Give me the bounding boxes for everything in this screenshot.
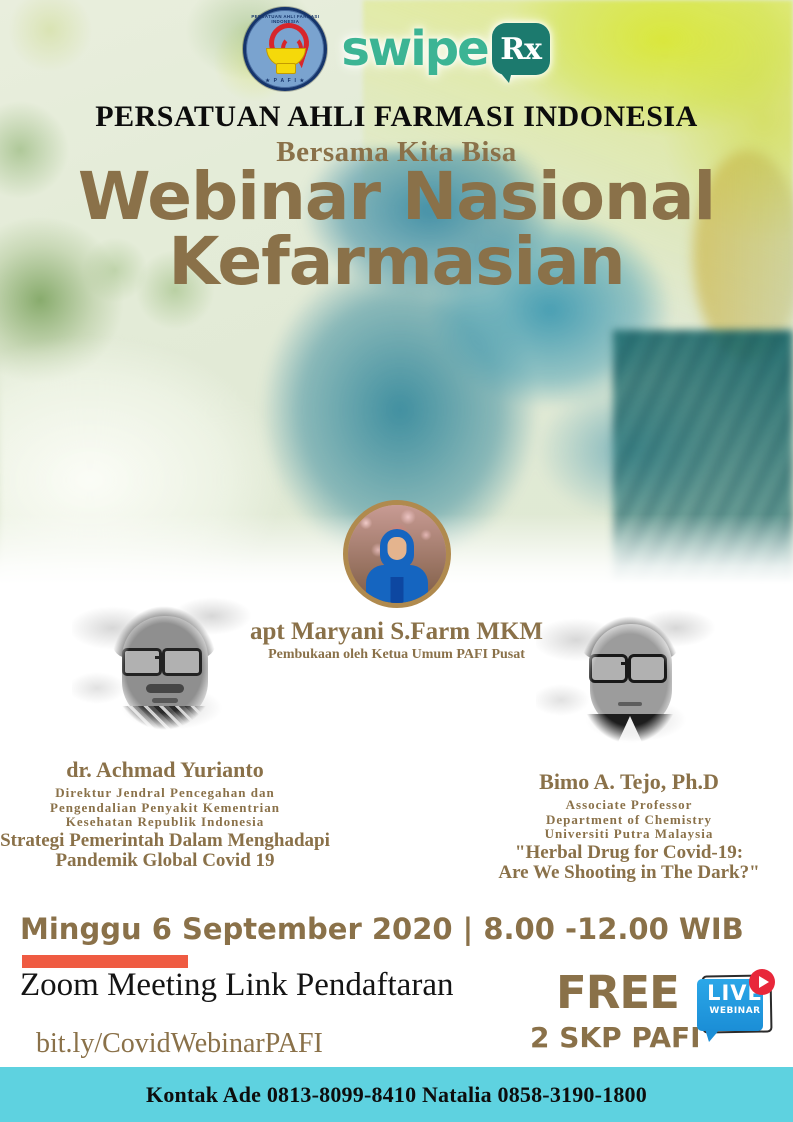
eyeglasses-icon (122, 648, 162, 676)
logo-row: PERSATUAN AHLI FARMASI INDONESIA ★ P A F… (0, 8, 793, 90)
speaker-left-affiliation-line3: Kesehatan Republik Indonesia (0, 815, 330, 830)
platform-registration-label: Zoom Meeting Link Pendaftaran (20, 967, 453, 1004)
credits-badge: 2 SKP PAFI (530, 1021, 701, 1054)
speaker-right-photo (536, 600, 722, 765)
speaker-right-affiliation-line2: Department of Chemistry (465, 813, 793, 828)
speaker-left-affiliation-line1: Direktur Jendral Pencegahan dan (0, 786, 330, 801)
speaker-left-topic-line2: Pandemik Global Covid 19 (0, 851, 330, 871)
speaker-left-topic-line1: Strategi Pemerintah Dalam Menghadapi (0, 831, 330, 851)
speaker-right: Bimo A. Tejo, Ph.D Associate Professor D… (465, 600, 793, 883)
registration-link[interactable]: bit.ly/CovidWebinarPAFI (36, 1028, 323, 1060)
speaker-left-topic: Strategi Pemerintah Dalam Menghadapi Pan… (0, 831, 330, 871)
pafi-logo-ring-bottom-text: ★ P A F I ★ (246, 78, 324, 84)
speaker-left-affiliation-line2: Pengendalian Penyakit Kementrian (0, 801, 330, 816)
speaker-left-photo (72, 588, 258, 753)
footer-contact-bar: Kontak Ade 0813-8099-8410 Natalia 0858-3… (0, 1067, 793, 1122)
organization-title: PERSATUAN AHLI FARMASI INDONESIA (0, 100, 793, 134)
live-webinar-badge: LIVE WEBINAR (697, 975, 773, 1037)
eyeglasses-icon (589, 654, 628, 683)
contact-text: Kontak Ade 0813-8099-8410 Natalia 0858-3… (146, 1082, 647, 1108)
speaker-left: dr. Achmad Yurianto Direktur Jendral Pen… (0, 588, 330, 871)
pafi-logo-icon: PERSATUAN AHLI FARMASI INDONESIA ★ P A F… (243, 7, 327, 91)
speaker-right-name: Bimo A. Tejo, Ph.D (465, 769, 793, 795)
speaker-right-affiliation-line1: Associate Professor (465, 798, 793, 813)
live-badge-line2: WEBINAR (697, 1006, 773, 1016)
speaker-left-name: dr. Achmad Yurianto (0, 757, 330, 783)
rx-speech-bubble-icon: Rx (492, 23, 550, 75)
price-badge: FREE (556, 966, 679, 1019)
speaker-right-topic: "Herbal Drug for Covid-19: Are We Shooti… (465, 843, 793, 883)
play-icon (749, 969, 775, 995)
speaker-right-affiliation: Associate Professor Department of Chemis… (465, 798, 793, 842)
page-title: Webinar Nasional Kefarmasian (0, 165, 793, 294)
avatar (343, 500, 451, 608)
swipe-wordmark: swipe (341, 25, 487, 73)
event-date-time: Minggu 6 September 2020 | 8.00 -12.00 WI… (20, 912, 744, 946)
swiperx-logo: swipe Rx (341, 23, 549, 75)
speaker-left-affiliation: Direktur Jendral Pencegahan dan Pengenda… (0, 786, 330, 830)
speaker-right-topic-line1: "Herbal Drug for Covid-19: (465, 843, 793, 863)
speaker-right-affiliation-line3: Universiti Putra Malaysia (465, 827, 793, 842)
rx-mark-text: Rx (500, 32, 541, 67)
main-title-line2: Kefarmasian (0, 230, 793, 295)
webinar-poster: PERSATUAN AHLI FARMASI INDONESIA ★ P A F… (0, 0, 793, 1122)
speaker-right-topic-line2: Are We Shooting in The Dark?" (465, 863, 793, 883)
